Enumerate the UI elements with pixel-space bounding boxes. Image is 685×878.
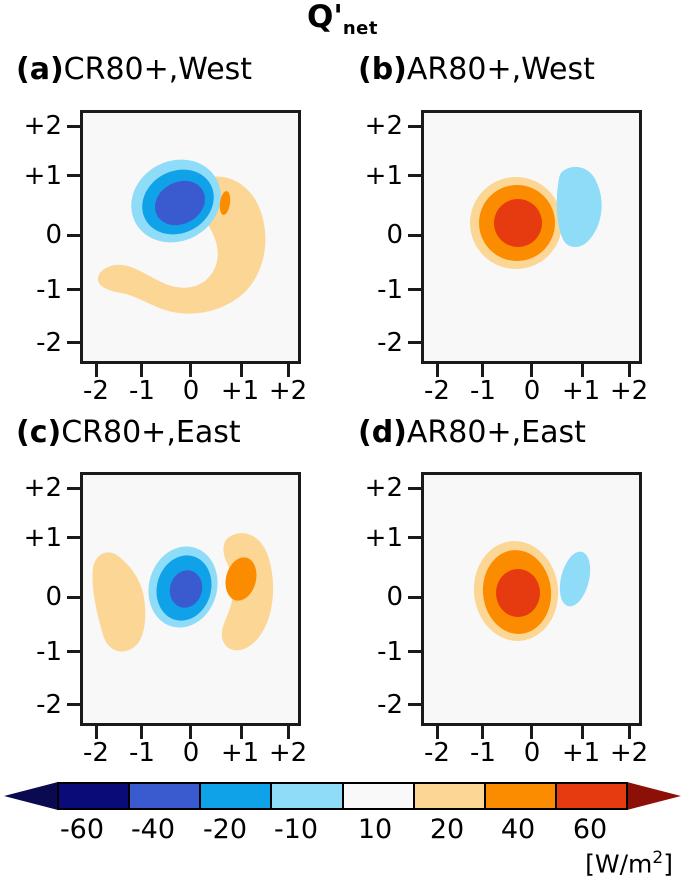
- panel-title-d: (d)AR80+,East: [358, 418, 586, 448]
- ytick-label-a-1: +1: [4, 163, 62, 189]
- plot-panel-b[interactable]: [421, 110, 642, 364]
- colorbar-cell-0: [59, 784, 130, 808]
- colorbar-cell-5: [415, 784, 486, 808]
- ytick-label-b-4: -2: [345, 330, 403, 356]
- colorbar-arrow-left: [4, 782, 58, 810]
- ytick-a-1: [67, 174, 80, 177]
- ytick-b-3: [408, 288, 421, 291]
- contour-plot-c: [83, 475, 298, 723]
- ytick-c-1: [67, 536, 80, 539]
- figure-title-main: Q: [307, 0, 333, 35]
- colorbar-unit: [W/m2]: [585, 850, 673, 876]
- ytick-label-d-3: -1: [345, 639, 403, 665]
- contour-plot-d: [424, 475, 639, 723]
- colorbar-arrow-right: [627, 782, 681, 810]
- panel-name-d: AR80+,East: [407, 415, 586, 450]
- contour-plot-b: [424, 113, 639, 361]
- ytick-label-a-0: +2: [4, 113, 62, 139]
- plot-panel-a[interactable]: [80, 110, 301, 364]
- panel-tag-a: (a): [16, 52, 64, 87]
- colorbar-label-7: 60: [536, 816, 644, 843]
- panel-title-b: (b)AR80+,West: [358, 55, 595, 85]
- ytick-c-2: [67, 596, 80, 599]
- contour-band-warm-40-d: [496, 569, 540, 617]
- panel-name-a: CR80+,West: [64, 52, 252, 87]
- ytick-b-4: [408, 341, 421, 344]
- contour-band-warm-40-b: [494, 199, 542, 247]
- panel-tag-b: (b): [358, 52, 407, 87]
- colorbar-unit-close: ]: [663, 849, 673, 878]
- ytick-label-c-1: +1: [4, 525, 62, 551]
- plot-panel-c[interactable]: [80, 472, 301, 726]
- ytick-label-d-0: +2: [345, 475, 403, 501]
- ytick-label-d-2: 0: [345, 584, 403, 610]
- colorbar-unit-exponent: 2: [652, 848, 663, 868]
- colorbar-cell-3: [272, 784, 343, 808]
- colorbar-cell-6: [486, 784, 557, 808]
- panel-title-a: (a)CR80+,West: [16, 55, 252, 85]
- figure-title-prime: ': [333, 0, 343, 35]
- ytick-c-0: [67, 487, 80, 490]
- ytick-a-2: [67, 234, 80, 237]
- ytick-d-2: [408, 596, 421, 599]
- ytick-b-0: [408, 125, 421, 128]
- colorbar-cell-7: [557, 784, 626, 808]
- figure-title-subscript: net: [343, 18, 378, 39]
- ytick-label-b-3: -1: [345, 277, 403, 303]
- ytick-label-a-2: 0: [4, 222, 62, 248]
- ytick-a-3: [67, 288, 80, 291]
- ytick-label-d-4: -2: [345, 692, 403, 718]
- panel-tag-d: (d): [358, 415, 407, 450]
- ytick-label-c-3: -1: [4, 639, 62, 665]
- ytick-label-b-0: +2: [345, 113, 403, 139]
- ytick-a-4: [67, 341, 80, 344]
- ytick-label-a-4: -2: [4, 330, 62, 356]
- colorbar: -60 -40 -20 -10 10 20 40 60 [W/m2]: [0, 778, 685, 866]
- panel-name-b: AR80+,West: [407, 52, 595, 87]
- contour-band-cool-10-b: [557, 167, 602, 247]
- ytick-d-1: [408, 536, 421, 539]
- colorbar-cell-4: [344, 784, 415, 808]
- colorbar-cell-1: [130, 784, 201, 808]
- ytick-c-4: [67, 703, 80, 706]
- panel-name-c: CR80+,East: [61, 415, 240, 450]
- ytick-label-c-0: +2: [4, 475, 62, 501]
- figure-title: Q'net: [0, 2, 685, 38]
- ytick-label-c-4: -2: [4, 692, 62, 718]
- xtick-label-a-4: +2: [258, 378, 318, 404]
- ytick-c-3: [67, 650, 80, 653]
- contour-plot-a: [83, 113, 298, 361]
- panel-title-c: (c)CR80+,East: [16, 418, 241, 448]
- panel-tag-c: (c): [16, 415, 61, 450]
- ytick-label-d-1: +1: [345, 525, 403, 551]
- colorbar-unit-text: [W/m: [585, 849, 652, 878]
- colorbar-cells: [57, 782, 628, 810]
- ytick-d-3: [408, 650, 421, 653]
- colorbar-cell-2: [201, 784, 272, 808]
- xtick-label-b-4: +2: [599, 378, 659, 404]
- plot-panel-d[interactable]: [421, 472, 642, 726]
- ytick-a-0: [67, 125, 80, 128]
- xtick-label-c-4: +2: [258, 740, 318, 766]
- ytick-label-b-2: 0: [345, 222, 403, 248]
- ytick-label-b-1: +1: [345, 163, 403, 189]
- ytick-b-2: [408, 234, 421, 237]
- ytick-label-a-3: -1: [4, 277, 62, 303]
- contour-band-cool-10-d: [555, 548, 596, 609]
- ytick-d-0: [408, 487, 421, 490]
- xtick-label-d-4: +2: [599, 740, 659, 766]
- ytick-b-1: [408, 174, 421, 177]
- ytick-label-c-2: 0: [4, 584, 62, 610]
- ytick-d-4: [408, 703, 421, 706]
